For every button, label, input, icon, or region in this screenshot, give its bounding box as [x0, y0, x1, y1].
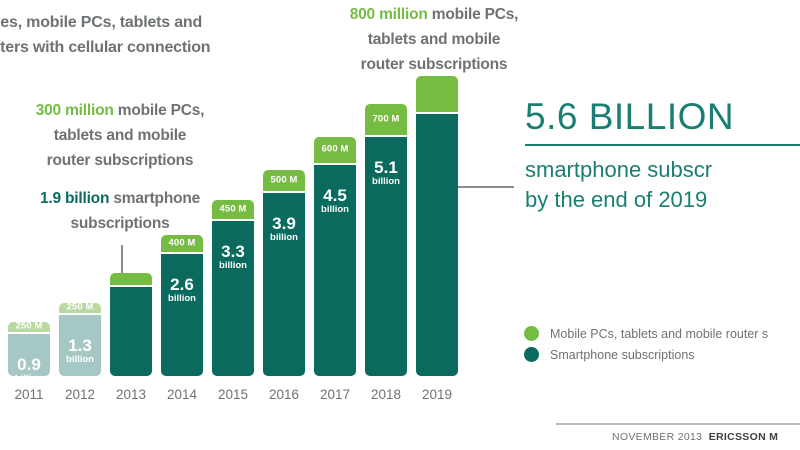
- bar-value-2011: 0.9: [17, 355, 41, 374]
- headline-subtitle-line1: smartphone subscr: [525, 155, 800, 185]
- bar-group-2016[interactable]: 500 M3.9billion: [263, 76, 305, 376]
- bar-unit-2016: billion: [263, 232, 305, 244]
- bar-unit-2011: billion: [8, 373, 50, 385]
- bar-label-green-2017: 600 M: [314, 144, 356, 155]
- bar-segment-green-2016[interactable]: 500 M: [263, 170, 305, 193]
- bar-value-2016: 3.9: [272, 214, 296, 233]
- bar-label-green-2018: 700 M: [365, 113, 407, 124]
- bar-group-2013[interactable]: [110, 76, 152, 376]
- legend-label-0: Mobile PCs, tablets and mobile router s: [550, 327, 768, 341]
- bar-label-green-2016: 500 M: [263, 174, 305, 185]
- bar-segment-green-2011[interactable]: 250 M: [8, 322, 50, 334]
- x-axis-label-2014: 2014: [161, 387, 203, 402]
- bar-unit-2012: billion: [59, 354, 101, 366]
- bar-stack-2013: [110, 273, 152, 376]
- bar-segment-teal-2015[interactable]: 3.3billion: [212, 221, 254, 376]
- bar-group-2012[interactable]: 250 M1.3billion: [59, 76, 101, 376]
- chart-legend: Mobile PCs, tablets and mobile router sS…: [524, 326, 800, 368]
- x-axis-label-2015: 2015: [212, 387, 254, 402]
- bar-group-2019[interactable]: [416, 76, 458, 376]
- bar-label-green-2014: 400 M: [161, 237, 203, 248]
- circle-marker-icon: [524, 326, 539, 341]
- bar-unit-2015: billion: [212, 260, 254, 272]
- bar-unit-2018: billion: [365, 176, 407, 188]
- bar-group-2015[interactable]: 450 M3.3billion: [212, 76, 254, 376]
- bar-segment-teal-2017[interactable]: 4.5billion: [314, 165, 356, 376]
- bar-label-green-2011: 250 M: [8, 321, 50, 332]
- bar-value-2012: 1.3: [68, 336, 92, 355]
- bar-stack-2018: 700 M5.1billion: [365, 104, 407, 376]
- bar-value-2014: 2.6: [170, 275, 194, 294]
- x-axis-label-2013: 2013: [110, 387, 152, 402]
- footer-text: NOVEMBER 2013 ERICSSON M: [612, 431, 778, 443]
- x-axis-label-2019: 2019: [416, 387, 458, 402]
- bar-label-teal-2017: 4.5billion: [314, 187, 356, 216]
- infographic-canvas: phones, mobile PCs, tablets and e router…: [0, 0, 800, 450]
- footer-date: NOVEMBER 2013: [612, 431, 702, 443]
- bar-segment-green-2013[interactable]: [110, 273, 152, 287]
- bar-stack-2016: 500 M3.9billion: [263, 170, 305, 376]
- bar-stack-2015: 450 M3.3billion: [212, 200, 254, 376]
- bar-segment-green-2014[interactable]: 400 M: [161, 235, 203, 254]
- bar-group-2011[interactable]: 250 M0.9billion: [8, 76, 50, 376]
- headline-block: 5.6 BILLION smartphone subscr by the end…: [525, 96, 800, 215]
- bar-label-teal-2014: 2.6billion: [161, 276, 203, 305]
- bar-segment-green-2019[interactable]: [416, 76, 458, 114]
- bar-segment-teal-2016[interactable]: 3.9billion: [263, 193, 305, 376]
- bar-segment-teal-2019[interactable]: [416, 114, 458, 376]
- headline-divider: [525, 144, 800, 146]
- bar-value-2017: 4.5: [323, 186, 347, 205]
- bar-segment-teal-2018[interactable]: 5.1billion: [365, 137, 407, 376]
- bar-label-teal-2018: 5.1billion: [365, 159, 407, 188]
- bar-label-teal-2015: 3.3billion: [212, 243, 254, 272]
- bar-label-teal-2016: 3.9billion: [263, 215, 305, 244]
- footer-divider: [556, 423, 800, 425]
- bar-segment-teal-2011[interactable]: 0.9billion: [8, 334, 50, 376]
- bar-stack-2019: [416, 76, 458, 376]
- bar-label-green-2012: 250 M: [59, 302, 101, 313]
- stacked-bar-chart: 250 M0.9billion2011250 M1.3billion201220…: [0, 0, 510, 410]
- bar-group-2014[interactable]: 400 M2.6billion: [161, 76, 203, 376]
- bar-segment-teal-2014[interactable]: 2.6billion: [161, 254, 203, 376]
- headline-subtitle-line2: by the end of 2019: [525, 185, 800, 215]
- bar-unit-2017: billion: [314, 204, 356, 216]
- bar-label-teal-2012: 1.3billion: [59, 337, 101, 366]
- bar-segment-teal-2012[interactable]: 1.3billion: [59, 315, 101, 376]
- bar-value-2015: 3.3: [221, 242, 245, 261]
- bar-group-2018[interactable]: 700 M5.1billion: [365, 76, 407, 376]
- bar-value-2018: 5.1: [374, 158, 398, 177]
- legend-item-0[interactable]: Mobile PCs, tablets and mobile router s: [524, 326, 800, 341]
- bar-segment-green-2018[interactable]: 700 M: [365, 104, 407, 137]
- bar-segment-teal-2013[interactable]: [110, 287, 152, 376]
- bar-segment-green-2015[interactable]: 450 M: [212, 200, 254, 221]
- circle-marker-icon: [524, 347, 539, 362]
- x-axis-label-2011: 2011: [8, 387, 50, 402]
- x-axis-label-2018: 2018: [365, 387, 407, 402]
- bar-label-teal-2011: 0.9billion: [8, 356, 50, 385]
- legend-item-1[interactable]: Smartphone subscriptions: [524, 347, 800, 362]
- headline-value: 5.6 BILLION: [525, 96, 800, 138]
- bar-group-2017[interactable]: 600 M4.5billion: [314, 76, 356, 376]
- bar-segment-green-2017[interactable]: 600 M: [314, 137, 356, 165]
- bar-stack-2014: 400 M2.6billion: [161, 235, 203, 376]
- x-axis-label-2012: 2012: [59, 387, 101, 402]
- x-axis-label-2017: 2017: [314, 387, 356, 402]
- bar-segment-green-2012[interactable]: 250 M: [59, 303, 101, 315]
- bar-unit-2014: billion: [161, 293, 203, 305]
- legend-label-1: Smartphone subscriptions: [550, 348, 695, 362]
- bar-stack-2012: 250 M1.3billion: [59, 303, 101, 376]
- x-axis-label-2016: 2016: [263, 387, 305, 402]
- footer-brand: ERICSSON M: [709, 431, 779, 443]
- bar-stack-2011: 250 M0.9billion: [8, 322, 50, 376]
- bar-stack-2017: 600 M4.5billion: [314, 137, 356, 376]
- bar-label-green-2015: 450 M: [212, 203, 254, 214]
